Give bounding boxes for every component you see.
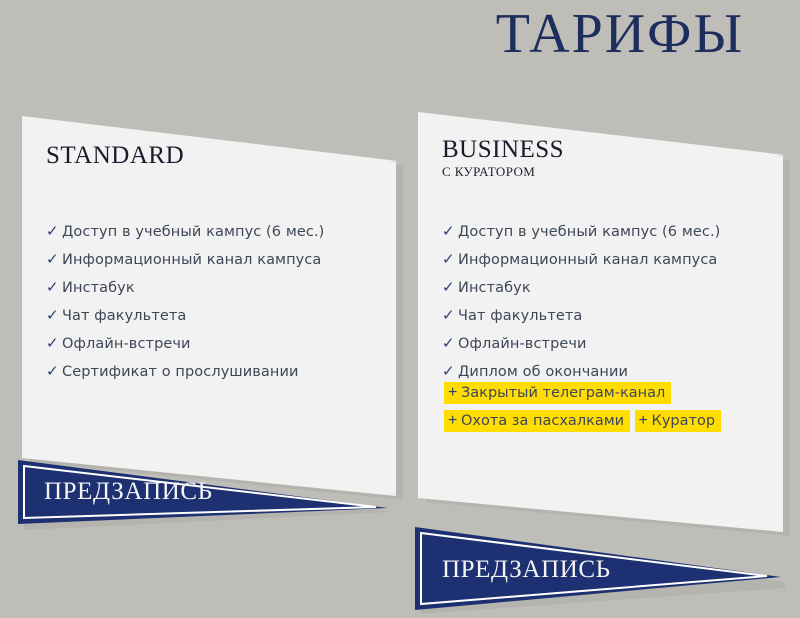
check-icon: ✓: [442, 246, 458, 274]
pricing-slide: ТАРИФЫ STANDARD ✓ Доступ в учебный кампу…: [0, 0, 800, 618]
feature-label: Информационный канал кампуса: [62, 246, 321, 274]
feature-label: Офлайн-встречи: [458, 330, 587, 358]
list-item: ✓ Информационный канал кампуса: [442, 246, 720, 274]
bonus-label: Закрытый телеграм-канал: [461, 382, 665, 404]
list-item: ✓ Офлайн-встречи: [46, 330, 324, 358]
plus-icon: +: [448, 382, 461, 404]
list-item: ✓ Информационный канал кампуса: [46, 246, 324, 274]
page-title: ТАРИФЫ: [455, 2, 785, 66]
check-icon: ✓: [442, 330, 458, 358]
feature-label: Чат факультета: [458, 302, 582, 330]
bonus-item: + Куратор: [635, 410, 722, 432]
cta-label-business: ПРЕДЗАПИСЬ: [442, 556, 611, 584]
check-icon: ✓: [46, 218, 62, 246]
feature-label: Инстабук: [458, 274, 531, 302]
plus-icon: +: [448, 410, 461, 432]
feature-label: Инстабук: [62, 274, 135, 302]
list-item: ✓ Инстабук: [46, 274, 324, 302]
feature-label: Доступ в учебный кампус (6 мес.): [62, 218, 324, 246]
bonus-item: + Закрытый телеграм-канал: [444, 382, 671, 404]
cta-label-standard: ПРЕДЗАПИСЬ: [44, 478, 213, 506]
bonus-label: Охота за пасхалками: [461, 410, 624, 432]
list-item: ✓ Доступ в учебный кампус (6 мес.): [442, 218, 720, 246]
feature-label: Доступ в учебный кампус (6 мес.): [458, 218, 720, 246]
check-icon: ✓: [46, 358, 62, 386]
bonus-label: Куратор: [652, 410, 716, 432]
check-icon: ✓: [442, 302, 458, 330]
feature-label: Чат факультета: [62, 302, 186, 330]
check-icon: ✓: [46, 274, 62, 302]
cta-pennant-standard[interactable]: ПРЕДЗАПИСЬ: [10, 452, 400, 532]
bonus-item: + Охота за пасхалками: [444, 410, 630, 432]
list-item: ✓ Доступ в учебный кампус (6 мес.): [46, 218, 324, 246]
list-item: ✓ Инстабук: [442, 274, 720, 302]
feature-label: Сертификат о прослушивании: [62, 358, 299, 386]
list-item: ✓ Сертификат о прослушивании: [46, 358, 324, 386]
plus-icon: +: [639, 410, 652, 432]
plan-card-business: BUSINESS С КУРАТОРОМ ✓ Доступ в учебный …: [400, 96, 800, 566]
feature-label: Информационный канал кампуса: [458, 246, 717, 274]
feature-list-business: ✓ Доступ в учебный кампус (6 мес.) ✓ Инф…: [442, 218, 720, 386]
check-icon: ✓: [46, 302, 62, 330]
list-item: ✓ Чат факультета: [46, 302, 324, 330]
plan-name-business: BUSINESS: [442, 136, 564, 164]
bonus-list-business: + Закрытый телеграм-канал + Охота за пас…: [444, 382, 800, 438]
check-icon: ✓: [46, 330, 62, 358]
feature-label: Офлайн-встречи: [62, 330, 191, 358]
list-item: ✓ Офлайн-встречи: [442, 330, 720, 358]
plan-subtitle-business: С КУРАТОРОМ: [442, 164, 535, 180]
plan-name-standard: STANDARD: [46, 142, 184, 170]
check-icon: ✓: [442, 274, 458, 302]
cta-pennant-business[interactable]: ПРЕДЗАПИСЬ: [405, 518, 795, 618]
list-item: ✓ Чат факультета: [442, 302, 720, 330]
feature-list-standard: ✓ Доступ в учебный кампус (6 мес.) ✓ Инф…: [46, 218, 324, 386]
check-icon: ✓: [46, 246, 62, 274]
check-icon: ✓: [442, 218, 458, 246]
